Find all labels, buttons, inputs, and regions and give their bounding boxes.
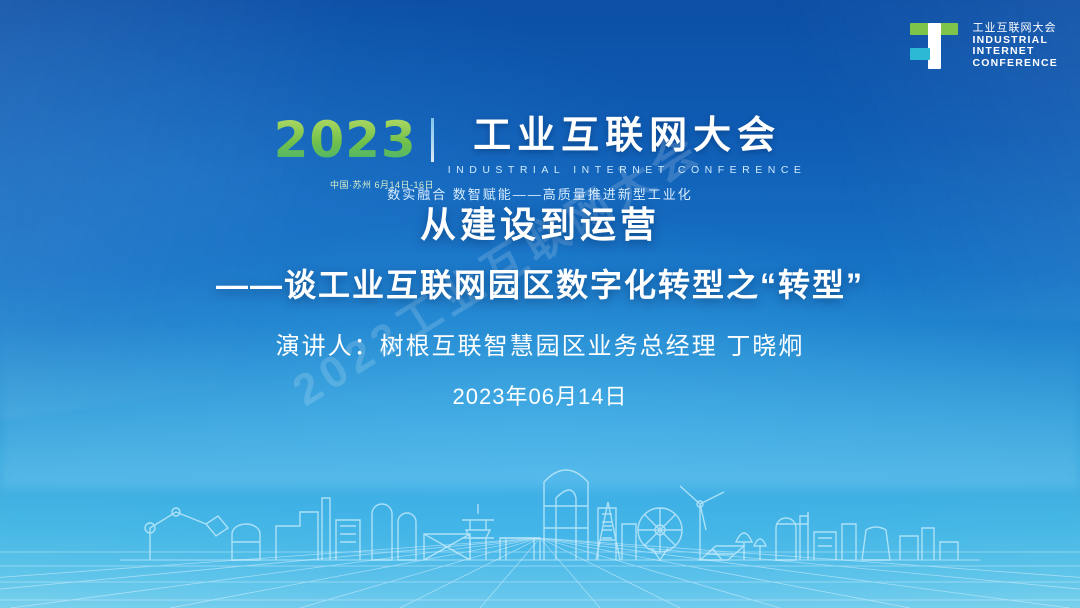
conference-name-cn: 工业互联网大会 (448, 104, 807, 159)
presentation-date: 2023年06月14日 (0, 379, 1080, 411)
slide-root: 工业互联网大会 INDUSTRIAL INTERNET CONFERENCE 2… (0, 0, 1080, 608)
speaker-name: 演讲人：树根互联智慧园区业务总经理 丁晓炯 (0, 326, 1080, 361)
title-block: 从建设到运营 ——谈工业互联网园区数字化转型之“转型” (0, 196, 1080, 306)
conference-banner: 2023 工业互联网大会 INDUSTRIAL INTERNET CONFERE… (0, 104, 1080, 203)
logo-title-en-3: CONFERENCE (972, 58, 1058, 70)
page-title: 从建设到运营 (0, 196, 1080, 248)
page-subtitle: ——谈工业互联网园区数字化转型之“转型” (0, 260, 1080, 306)
speaker-block: 演讲人：树根互联智慧园区业务总经理 丁晓炯 2023年06月14日 (0, 326, 1080, 411)
conference-logo: 工业互联网大会 INDUSTRIAL INTERNET CONFERENCE (906, 18, 1058, 74)
conference-year: 2023 (274, 111, 417, 169)
conference-name-en: INDUSTRIAL INTERNET CONFERENCE (448, 164, 807, 176)
conference-location-date: 中国·苏州 6月14日-16日 (330, 178, 434, 191)
perspective-grid (0, 538, 1080, 608)
logo-title-cn: 工业互联网大会 (972, 22, 1058, 34)
logo-mark-icon (906, 18, 962, 74)
divider (431, 118, 434, 162)
